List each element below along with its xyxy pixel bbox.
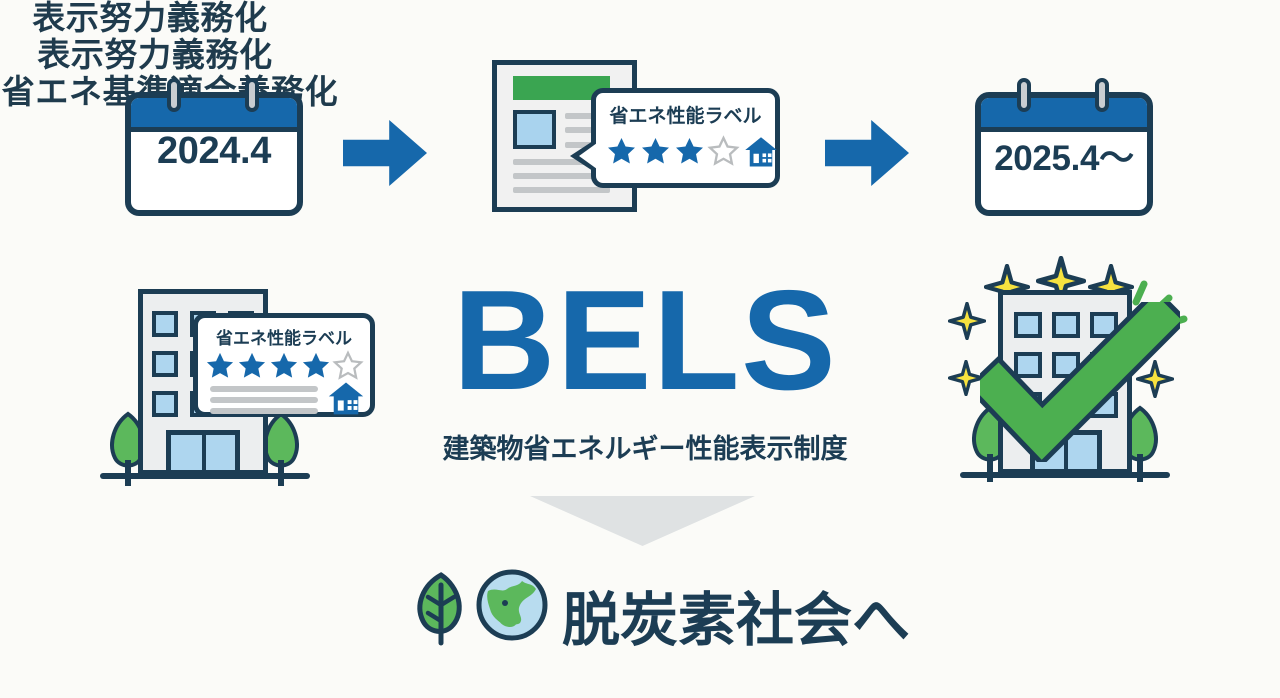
arrow-down-icon [530,496,755,546]
star-empty-icon [332,350,364,382]
building-window [152,351,178,377]
star-filled-icon [673,135,706,168]
energy-label-title-bottom: 省エネ性能ラベル [198,324,370,349]
star-filled-icon [268,350,300,382]
brand-subtitle: 建築物省エネルギー性能表示制度 [420,427,870,466]
energy-label-title-top: 省エネ性能ラベル [596,101,775,128]
star-filled-icon [204,350,236,382]
calendar-date-2025: 2025.4〜 [975,130,1153,181]
calendar-date-2024: 2024.4 [125,130,303,173]
star-filled-icon [639,135,672,168]
building-ground-line [100,473,310,479]
house-icon [326,380,366,416]
sparkle-icon [948,360,984,396]
brand-title: BELS [420,276,870,407]
star-filled-icon [300,350,332,382]
callout-pointer-inner [579,143,597,169]
house-icon [743,135,779,168]
apartment-building-right [940,282,1190,482]
building-ground-line [960,472,1170,478]
document-image-box [513,110,556,148]
calendar-ring-left [1017,78,1031,112]
document-text-line [513,187,610,193]
energy-label-callout-top: 省エネ性能ラベル [591,88,780,188]
star-filled-icon [236,350,268,382]
building-window [152,311,178,337]
calendar-ring-right [1095,78,1109,112]
building-window [152,391,178,417]
label-text-line [210,397,318,403]
outcome-text: 脱炭素社会へ [562,573,910,657]
energy-label-card-bottom: 省エネ性能ラベル [193,313,375,417]
calendar-header-band [981,98,1147,132]
building-door-divider [202,435,206,475]
energy-label-stars-bottom [204,350,364,382]
infographic-canvas: 2024.4 省エネ性能ラベル [0,0,1280,698]
arrow-right-icon-2 [825,120,909,186]
star-empty-icon [707,135,740,168]
caption-middle-stage: 表示努力義務化 [0,0,300,37]
calendar-header-band [131,98,297,132]
leaf-icon [413,569,469,647]
earth-globe-icon [474,567,550,643]
calendar-ring-right [245,78,259,112]
calendar-2025: 2025.4〜 [975,78,1153,218]
star-filled-icon [605,135,638,168]
calendar-ring-left [167,78,181,112]
label-text-line [210,408,318,414]
energy-label-stars-top [605,135,779,168]
check-mark-icon [980,302,1180,462]
arrow-right-icon-1 [343,120,427,186]
calendar-2024: 2024.4 [125,78,303,218]
label-text-line [210,386,318,392]
caption-left-block: 表示努力義務化 [0,37,310,74]
